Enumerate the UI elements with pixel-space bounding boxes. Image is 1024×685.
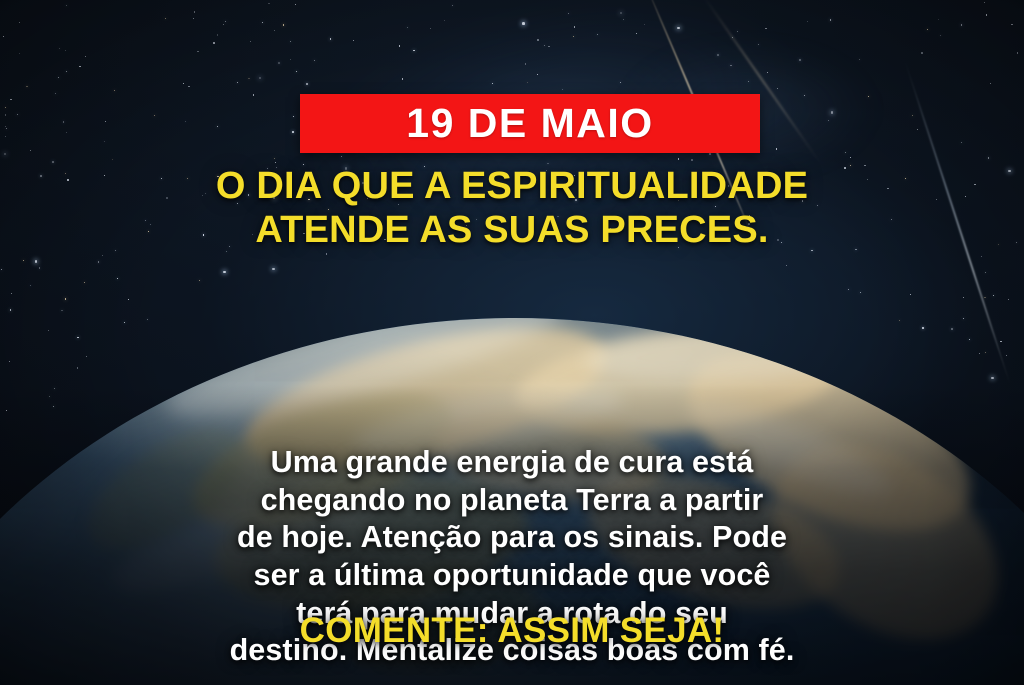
headline-line-2: ATENDE AS SUAS PRECES. [40, 208, 984, 252]
content-layer: 19 DE MAIO O DIA QUE A ESPIRITUALIDADE A… [0, 0, 1024, 685]
date-banner: 19 DE MAIO [300, 94, 760, 153]
date-banner-label: 19 DE MAIO [406, 103, 653, 144]
body-line-1: Uma grande energia de cura está [58, 444, 966, 482]
poster-canvas: 19 DE MAIO O DIA QUE A ESPIRITUALIDADE A… [0, 0, 1024, 685]
body-line-2: chegando no planeta Terra a partir [58, 482, 966, 520]
headline-line-1: O DIA QUE A ESPIRITUALIDADE [40, 164, 984, 208]
body-line-4: ser a última oportunidade que você [58, 557, 966, 595]
call-to-action: COMENTE: ASSIM SEJA! [0, 612, 1024, 651]
body-line-3: de hoje. Atenção para os sinais. Pode [58, 519, 966, 557]
headline: O DIA QUE A ESPIRITUALIDADE ATENDE AS SU… [0, 164, 1024, 253]
